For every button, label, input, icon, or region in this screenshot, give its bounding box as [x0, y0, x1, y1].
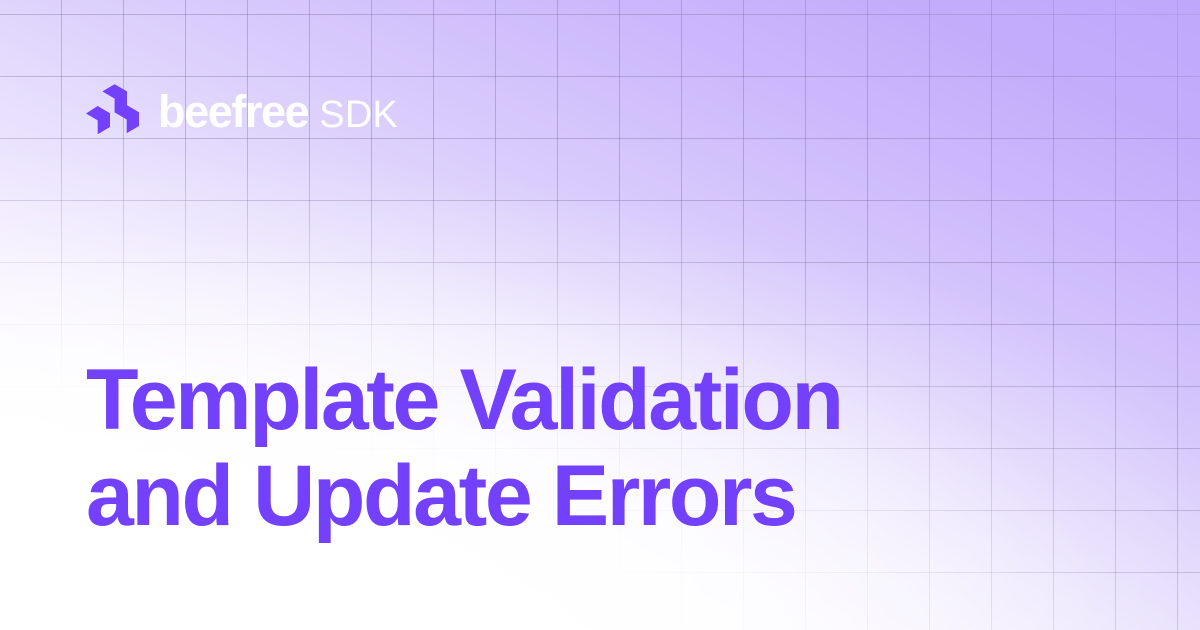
page-title: Template Validation and Update Errors — [86, 352, 1106, 544]
logo-lockup: beefree SDK — [86, 80, 398, 142]
logo-wordmark: beefree SDK — [158, 89, 398, 134]
headline-line-1: Template Validation — [86, 352, 1106, 448]
logo-product-name: SDK — [319, 96, 398, 134]
beefree-logo-icon — [86, 82, 144, 140]
logo-brand-name: beefree — [158, 89, 308, 134]
social-share-banner: beefree SDK Template Validation and Upda… — [0, 0, 1200, 630]
headline-line-2: and Update Errors — [86, 448, 1106, 544]
